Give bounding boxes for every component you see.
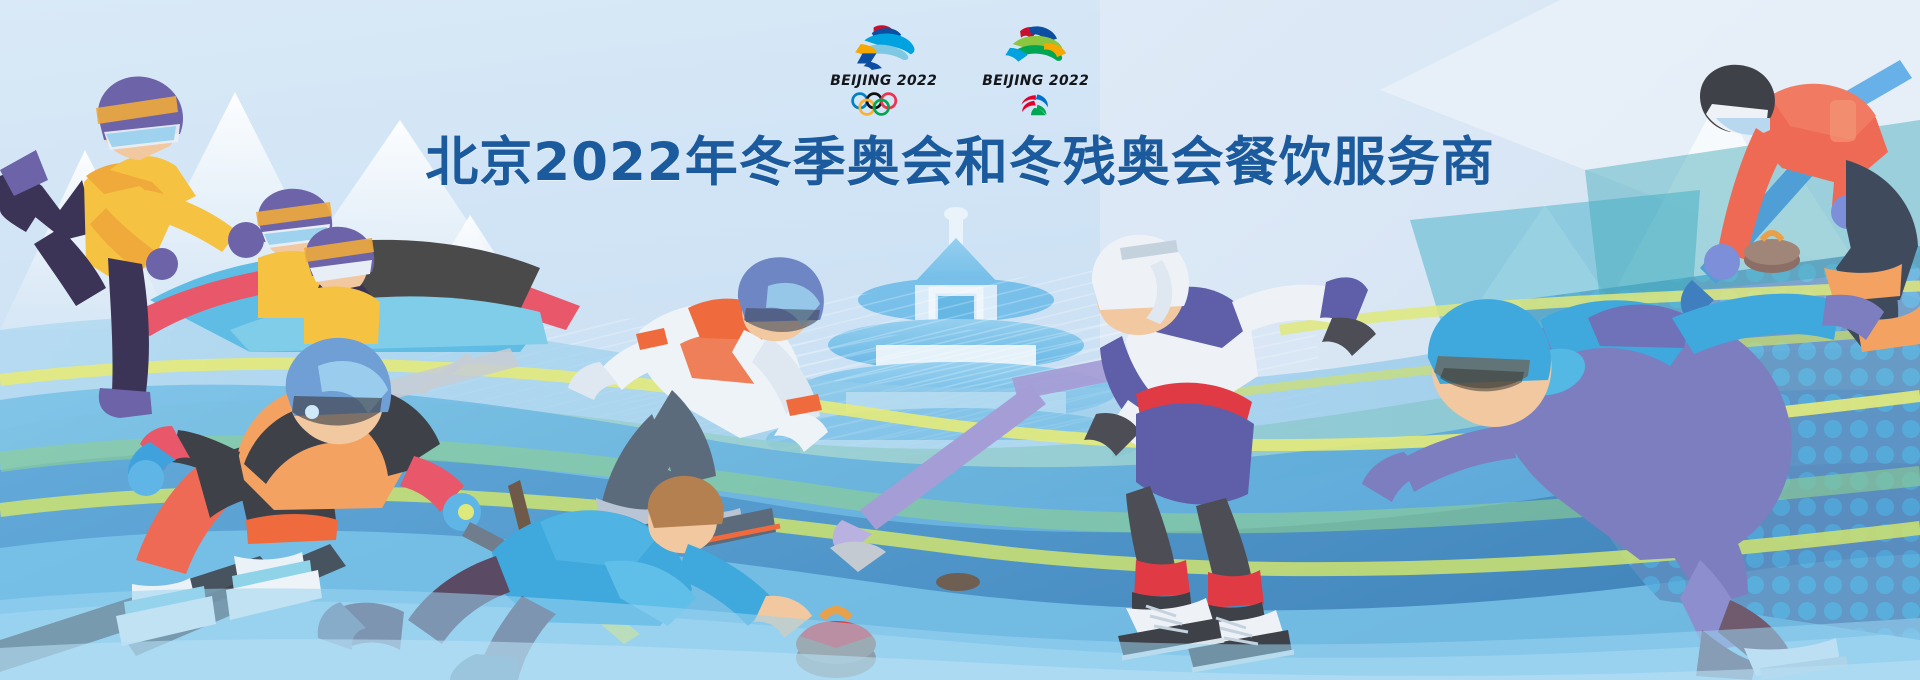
olympic-banner: BEIJING 2022 (0, 0, 1920, 680)
olympic-wordmark: BEIJING 2022 (831, 73, 938, 89)
paralympic-emblem-block[interactable]: BEIJING 2022 (981, 22, 1091, 116)
paralympic-agitos-icon (999, 92, 1073, 116)
emblem-row: BEIJING 2022 (0, 22, 1920, 116)
olympic-emblem-block[interactable]: BEIJING 2022 (829, 22, 939, 116)
beijing-2022-olympic-emblem-icon (833, 22, 935, 70)
paralympic-wordmark: BEIJING 2022 (983, 73, 1090, 89)
olympic-rings-icon (847, 92, 921, 116)
page-title: 北京2022年冬季奥会和冬残奥会餐饮服务商 (0, 120, 1920, 196)
beijing-2022-paralympic-emblem-icon (985, 22, 1087, 70)
